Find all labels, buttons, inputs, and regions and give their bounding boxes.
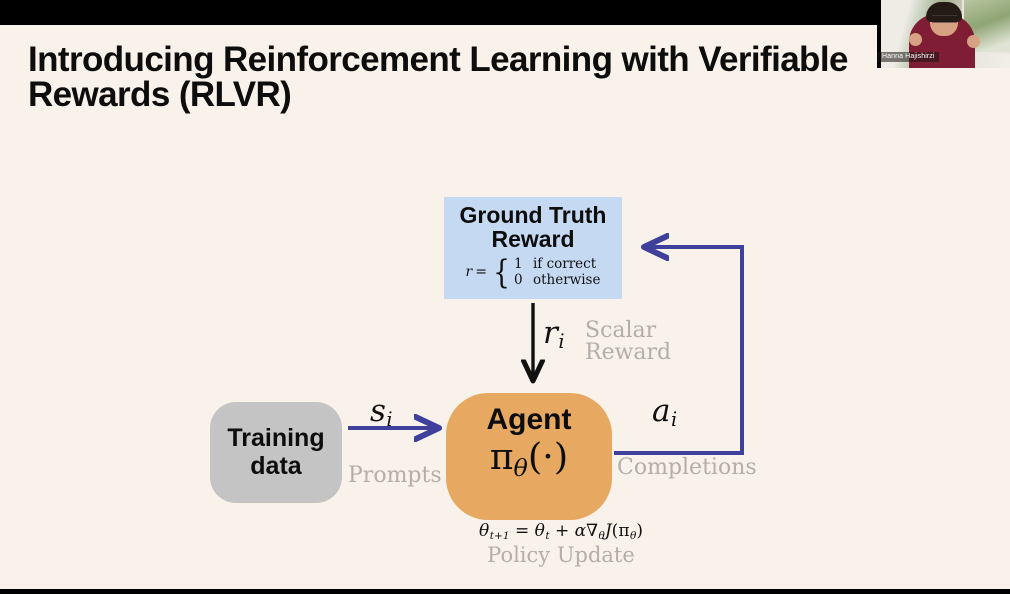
completions-label: Completions	[617, 457, 757, 479]
pu-equals: =	[515, 521, 529, 541]
screen: Introducing Reinforcement Learning with …	[0, 0, 1010, 594]
pu-alpha: α	[575, 521, 586, 541]
reward-case-2-value: 0	[514, 272, 526, 288]
training-data-box: Training data	[210, 402, 342, 503]
scalar-reward-symbol: ri	[543, 315, 564, 353]
ground-truth-reward-box: Ground Truth Reward r = { 1if correct 0o…	[444, 197, 622, 299]
ground-truth-reward-title: Ground Truth Reward	[444, 203, 622, 252]
reward-case-1: 1if correct	[514, 256, 600, 272]
reward-case-1-value: 1	[514, 256, 526, 272]
policy-theta-subscript: θ	[514, 454, 528, 482]
webcam-person-hand-left	[909, 33, 922, 46]
gt-title-line-1: Ground Truth	[444, 203, 622, 227]
glasses-icon	[932, 15, 957, 23]
pu-theta-t-subscript: t	[545, 530, 549, 542]
completions-symbol: ai	[652, 393, 677, 431]
policy-argument: (·)	[528, 435, 568, 478]
scalar-reward-symbol-base: r	[543, 315, 558, 351]
policy-update-group: θt+1 = θt + α∇θJ(πθ) Policy Update	[446, 521, 676, 567]
pu-theta-next: θ	[479, 521, 489, 541]
pu-plus: +	[555, 521, 569, 541]
completions-symbol-base: a	[652, 393, 670, 429]
webcam-person-hand-right	[967, 35, 980, 48]
agent-box: Agent πθ(·)	[446, 393, 612, 520]
scalar-reward-label: Scalar Reward	[585, 320, 671, 365]
pu-nabla: ∇	[586, 521, 598, 541]
reward-case-2: 0otherwise	[514, 272, 600, 288]
webcam-video-tile[interactable]: Hanna Hajishirzi	[877, 0, 1010, 68]
prompts-symbol: si	[370, 393, 393, 431]
agent-policy-formula: πθ(·)	[446, 438, 612, 481]
reward-formula-equals: =	[475, 264, 487, 280]
participant-name-label: Hanna Hajishirzi	[877, 52, 939, 62]
prompts-symbol-base: s	[370, 393, 386, 429]
page-title: Introducing Reinforcement Learning with …	[28, 42, 848, 112]
agent-label: Agent	[446, 405, 612, 435]
prompts-symbol-subscript: i	[386, 408, 392, 431]
bottom-letterbox-bar	[0, 589, 1010, 594]
reward-case-2-condition: otherwise	[533, 272, 600, 288]
pu-theta-t: θ	[535, 521, 545, 541]
reward-case-1-condition: if correct	[533, 256, 596, 272]
policy-update-formula: θt+1 = θt + α∇θJ(πθ)	[446, 521, 676, 542]
pu-paren-close: )	[636, 521, 643, 541]
pu-pi: π	[618, 521, 629, 541]
gt-title-line-2: Reward	[444, 227, 622, 251]
presentation-slide: Introducing Reinforcement Learning with …	[0, 25, 1010, 589]
policy-pi-symbol: π	[490, 437, 514, 478]
policy-update-caption: Policy Update	[446, 543, 676, 567]
completions-symbol-subscript: i	[671, 408, 677, 431]
reward-function-formula: r = { 1if correct 0otherwise	[444, 256, 622, 289]
training-data-label: Training data	[227, 425, 324, 480]
pu-theta-next-subscript: t+1	[490, 530, 510, 542]
pu-j: J	[605, 521, 612, 541]
reward-cases: 1if correct 0otherwise	[514, 256, 600, 289]
scalar-reward-symbol-subscript: i	[558, 330, 564, 353]
prompts-label: Prompts	[348, 465, 442, 487]
cases-brace: {	[493, 259, 510, 285]
reward-formula-lhs: r	[466, 264, 473, 280]
top-letterbox-bar	[0, 0, 1010, 25]
